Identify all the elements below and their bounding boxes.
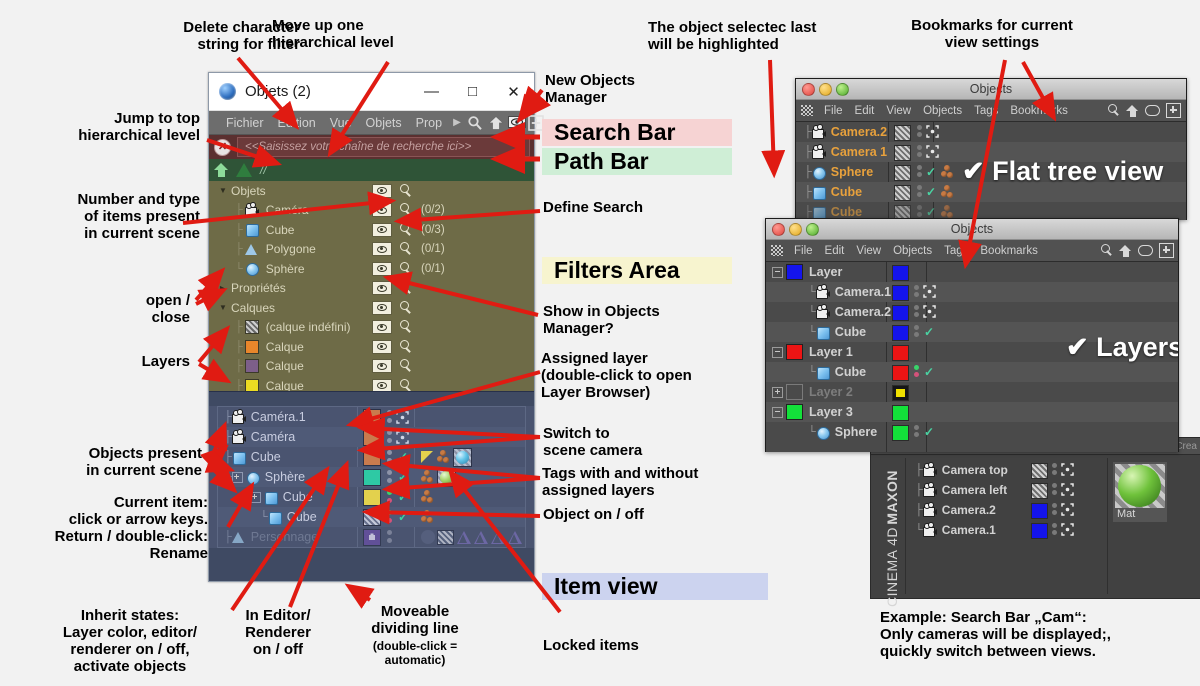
tree-line: ├ [235, 380, 243, 391]
menu-bar[interactable]: File Edit View Objects Tags Bookmarks [796, 100, 1186, 122]
filter-row[interactable]: ├Caméra(0/2) [209, 201, 534, 221]
search-icon[interactable] [1101, 244, 1114, 257]
assigned-layer-chip[interactable] [363, 509, 381, 526]
eye-icon[interactable] [372, 320, 392, 334]
item-row[interactable]: ├Sphère✓ [218, 467, 525, 487]
switch-to-camera-icon[interactable] [923, 285, 936, 298]
cube-icon [245, 223, 260, 236]
tag-list[interactable] [421, 447, 475, 467]
inherit-dots[interactable] [913, 424, 920, 439]
sphere-icon [246, 471, 261, 484]
item-row[interactable]: ├Personnage [218, 527, 525, 547]
expander-icon[interactable] [772, 407, 783, 418]
menu-item-objects[interactable]: Objects [923, 105, 962, 117]
layer-row-label: Camera.2 [835, 305, 891, 319]
layer-row-label: Layer 1 [809, 345, 853, 359]
tree-line: └ [235, 263, 243, 275]
annotation-inherit-states: Inherit states: Layer color, editor/ ren… [30, 608, 230, 676]
inherit-dots[interactable] [1051, 522, 1058, 537]
camera-icon [923, 464, 938, 477]
layer-color-swatch[interactable] [786, 344, 803, 360]
camera-icon [232, 431, 247, 444]
item-row-label: Cube [251, 450, 281, 464]
object-on-off-check[interactable]: ✓ [398, 450, 408, 464]
camera-icon [812, 126, 827, 139]
twisty-icon[interactable]: ▼ [217, 186, 229, 195]
menu-item-view[interactable]: View [886, 105, 911, 117]
inherit-dots[interactable] [913, 304, 920, 319]
item-row[interactable]: ├Caméra.1 [218, 407, 525, 427]
assigned-layer-chip[interactable] [1031, 523, 1048, 539]
layer-row[interactable]: └Sphere✓ [766, 422, 1178, 442]
no-layer-chip[interactable] [1031, 483, 1048, 499]
filter-row-label: Sphère [266, 262, 305, 276]
item-row[interactable]: ├Cube✓ [218, 487, 525, 507]
eye-icon[interactable] [372, 379, 392, 391]
cube-icon [232, 451, 247, 464]
object-on-off-check[interactable]: ✓ [926, 205, 936, 219]
switch-to-camera-icon[interactable] [1061, 503, 1074, 516]
window-titlebar[interactable]: Objects [796, 79, 1186, 100]
layer-row[interactable]: Layer [766, 262, 1178, 282]
result-row[interactable]: ├Camera left [913, 480, 1103, 500]
eye-icon[interactable] [372, 203, 392, 217]
object-on-off-check[interactable]: ✓ [398, 510, 408, 524]
material-tag-icon[interactable] [453, 448, 472, 467]
eye-icon[interactable] [372, 340, 392, 354]
menu-item-objects[interactable]: Objects [893, 245, 932, 257]
menu-item-tags[interactable]: Tags [974, 105, 998, 117]
result-row-label: Camera top [942, 463, 1008, 477]
tree-line: ├ [235, 204, 243, 216]
twisty-icon[interactable]: ▶ [217, 284, 229, 293]
highlight-path-bar: Path Bar [542, 148, 732, 175]
menu-bar[interactable]: Fichier Edition Vue Objets Prop ▶ [209, 111, 534, 135]
window-titlebar[interactable]: Objects [766, 219, 1178, 240]
filter-row[interactable]: ├Calque [209, 357, 534, 377]
triangle-tag-icon[interactable] [457, 531, 472, 544]
assigned-layer-chip[interactable] [892, 325, 909, 341]
search-icon[interactable] [399, 223, 413, 237]
switch-to-camera-icon[interactable] [926, 125, 939, 138]
eye-icon[interactable] [508, 115, 524, 131]
chevron-right-icon[interactable]: ▶ [453, 117, 461, 128]
menu-item-bookmarks[interactable]: Bookmarks [1010, 105, 1068, 117]
close-button[interactable]: ✕ [493, 73, 534, 110]
switch-to-camera-icon[interactable] [923, 305, 936, 318]
search-icon[interactable] [1108, 104, 1121, 117]
object-on-off-check[interactable]: ✓ [926, 165, 936, 179]
camera-icon [812, 146, 827, 159]
expander-icon[interactable] [772, 267, 783, 278]
moveable-dividing-line[interactable] [209, 391, 534, 397]
tag-dots-icon[interactable] [421, 489, 434, 506]
texture-tag-icon[interactable] [437, 530, 454, 545]
layer-row-label: Cube [835, 325, 866, 339]
tag-dots-icon[interactable] [941, 164, 954, 181]
item-count: (0/3) [421, 224, 445, 236]
layer-row-label: Layer [809, 265, 842, 279]
material-thumb[interactable]: Mat [1113, 462, 1167, 522]
result-row-label: Camera left [942, 483, 1007, 497]
switch-to-camera-icon[interactable] [1061, 523, 1074, 536]
menu-item-tags[interactable]: Tags [944, 245, 968, 257]
flat-row[interactable]: ├Camera.2 [796, 122, 1186, 142]
filter-row-label: Calque [266, 379, 304, 391]
layer-color-swatch[interactable] [245, 359, 259, 373]
inherit-dots[interactable] [913, 284, 920, 299]
assigned-layer-chip[interactable] [892, 385, 909, 401]
annotation-number-and-type: Number and type of items present in curr… [10, 192, 200, 243]
tree-line: ├ [804, 166, 812, 178]
eye-icon[interactable] [372, 359, 392, 373]
layer-row[interactable]: Layer 3 [766, 402, 1178, 422]
tag-dots-icon[interactable] [421, 469, 434, 486]
menu-item-edit[interactable]: Edit [825, 245, 845, 257]
search-result-list[interactable]: ├Camera top├Camera left├Camera.2└Camera.… [913, 460, 1103, 540]
search-icon[interactable] [399, 203, 413, 217]
tag-list[interactable] [421, 507, 437, 527]
assigned-layer-chip[interactable] [892, 425, 909, 441]
flat-row-label: Camera 1 [831, 145, 887, 159]
inherit-dots[interactable] [386, 489, 394, 505]
object-on-off-check[interactable]: ✓ [924, 365, 934, 379]
item-row[interactable]: └Cube✓ [218, 507, 525, 527]
flat-row-label: Cube [831, 185, 862, 199]
inherit-dots[interactable] [913, 324, 920, 339]
inherit-dots[interactable] [1051, 502, 1058, 517]
search-icon[interactable] [399, 242, 413, 256]
menu-item-prop[interactable]: Prop [416, 116, 442, 130]
item-view[interactable]: ├Caméra.1├Caméra├Cube✓├Sphère✓├Cube✓└Cub… [209, 406, 534, 548]
polygon-icon [232, 531, 247, 544]
item-count: (0/2) [421, 204, 445, 216]
tree-line: ├ [235, 243, 243, 255]
path-bar[interactable]: // [209, 159, 534, 181]
layer-color-swatch[interactable] [786, 264, 803, 280]
item-row[interactable]: ├Caméra [218, 427, 525, 447]
annotation-layers: Layers [10, 354, 190, 371]
search-bar[interactable]: ✕ <<Saisissez votre chaîne de recherche … [209, 135, 534, 159]
camera-icon [923, 484, 938, 497]
assigned-layer-chip[interactable] [892, 285, 909, 301]
home-icon[interactable] [1119, 245, 1132, 257]
item-row[interactable]: ├Cube✓ [218, 447, 525, 467]
assigned-layer-chip[interactable] [363, 489, 381, 506]
tree-line: ├ [242, 491, 250, 503]
annotation-jump-top-level: Jump to top hierarchical level [10, 111, 200, 145]
layer-color-swatch[interactable] [245, 320, 259, 334]
object-on-off-check[interactable]: ✓ [926, 185, 936, 199]
filter-row[interactable]: ▶Propriétés [209, 279, 534, 299]
filter-row[interactable]: ├(calque indéfini) [209, 318, 534, 338]
menu-item-objets[interactable]: Objets [366, 116, 402, 130]
item-view-list[interactable]: ├Caméra.1├Caméra├Cube✓├Sphère✓├Cube✓└Cub… [217, 406, 526, 548]
camera-icon [816, 306, 831, 319]
assigned-layer-chip[interactable] [892, 345, 909, 361]
home-icon[interactable] [488, 115, 504, 131]
window-title: Objects [796, 82, 1186, 96]
annotation-assigned-layer: Assigned layer (double-click to open Lay… [541, 351, 771, 402]
filter-row-label: Cube [266, 223, 295, 237]
highlight-search-bar: Search Bar [542, 119, 732, 146]
assigned-layer-chip[interactable] [892, 405, 909, 421]
camera-icon [816, 286, 831, 299]
eye-icon[interactable] [372, 262, 392, 276]
expander-icon[interactable] [772, 387, 783, 398]
object-on-off-check[interactable]: ✓ [924, 325, 934, 339]
result-row[interactable]: ├Camera top [913, 460, 1103, 480]
switch-to-camera-icon[interactable] [396, 431, 409, 444]
layer-row-label: Cube [835, 365, 866, 379]
object-on-off-check[interactable]: ✓ [398, 490, 408, 504]
plus-icon[interactable] [1159, 243, 1174, 258]
inherit-dots[interactable] [386, 509, 394, 525]
flat-tree-body[interactable]: ├Camera.2├Camera 1├Sphere✓├Cube✓├Cube✓ ✔… [796, 122, 1186, 220]
maximize-button[interactable]: □ [452, 73, 493, 110]
menu-item-vue[interactable]: Vue [330, 116, 352, 130]
tag-list[interactable] [421, 467, 459, 487]
search-icon[interactable] [399, 301, 413, 315]
material-label: Mat [1115, 508, 1165, 520]
lock-icon[interactable] [363, 529, 381, 546]
filter-row[interactable]: ├Calque [209, 337, 534, 357]
filter-row-label: Propriétés [231, 281, 286, 295]
tree-line: ├ [224, 531, 232, 543]
polygon-icon [245, 243, 260, 256]
plus-icon[interactable] [1166, 103, 1181, 118]
switch-to-camera-icon[interactable] [926, 145, 939, 158]
menu-item-edit[interactable]: Edit [855, 105, 875, 117]
filter-row-label: Caméra [266, 203, 309, 217]
sphere-icon [812, 166, 827, 179]
result-row[interactable]: └Camera.1 [913, 520, 1103, 540]
menu-item-file[interactable]: File [794, 245, 813, 257]
inherit-dots[interactable] [1051, 482, 1058, 497]
cube-icon [268, 511, 283, 524]
window-titlebar[interactable]: Objets (2) — □ ✕ [209, 73, 534, 111]
eye-icon[interactable] [372, 223, 392, 237]
filter-row[interactable]: └Sphère(0/1) [209, 259, 534, 279]
filter-row-label: Polygone [266, 242, 316, 256]
inherit-dots[interactable] [916, 184, 923, 199]
annotation-object-selected-last: The object selectec last will be highlig… [648, 20, 878, 54]
flat-tree-badge: ✔ Flat tree view [962, 156, 1163, 187]
layer-row-label: Layer 3 [809, 405, 853, 419]
result-row-label: Camera.2 [942, 503, 996, 517]
switch-to-camera-icon[interactable] [1061, 483, 1074, 496]
flat-tree-window[interactable]: Objects File Edit View Objects Tags Book… [795, 78, 1187, 220]
layer-color-swatch[interactable] [786, 384, 803, 400]
cube-icon [812, 186, 827, 199]
search-icon[interactable] [399, 340, 413, 354]
tree-line: ├ [224, 451, 232, 463]
layer-row-label: Sphere [835, 425, 877, 439]
filters-area[interactable]: ▼Objets├Caméra(0/2)├Cube(0/3)├Polygone(0… [209, 181, 534, 391]
inherit-dots[interactable] [386, 469, 394, 485]
tree-line: ├ [804, 206, 812, 218]
eye-icon[interactable] [372, 301, 392, 315]
layer-row[interactable]: └Cube✓ [766, 362, 1178, 382]
assigned-layer-chip[interactable] [363, 409, 381, 426]
tree-line: └ [808, 306, 816, 318]
annotation-moveable-divider: Moveable dividing line [345, 604, 485, 638]
inherit-dots[interactable] [916, 164, 923, 179]
object-on-off-check[interactable]: ✓ [924, 425, 934, 439]
switch-to-camera-icon[interactable] [1061, 463, 1074, 476]
inherit-dots[interactable] [913, 364, 920, 379]
no-layer-chip[interactable] [894, 165, 911, 181]
assigned-layer-chip[interactable] [1031, 503, 1048, 519]
result-row[interactable]: ├Camera.2 [913, 500, 1103, 520]
expander-icon[interactable] [250, 492, 261, 503]
no-layer-chip[interactable] [894, 145, 911, 161]
triangle-tag-icon[interactable] [474, 531, 489, 544]
tree-line: ├ [224, 471, 232, 483]
menu-grip-icon[interactable] [771, 245, 783, 256]
annotation-moveable-divider-sub: (double-click = automatic) [345, 640, 485, 667]
triangle-tag-icon[interactable] [491, 531, 506, 544]
eye-icon[interactable] [1145, 105, 1160, 116]
menu-item-bookmarks[interactable]: Bookmarks [980, 245, 1038, 257]
tag-dots-icon[interactable] [421, 509, 434, 526]
item-count: (0/1) [421, 243, 445, 255]
clear-search-icon[interactable]: ✕ [214, 139, 231, 156]
annotation-switch-scene-camera: Switch to scene camera [543, 426, 743, 460]
flat-row-label: Sphere [831, 165, 873, 179]
menu-item-fichier[interactable]: Fichier [226, 116, 264, 130]
tag-dots-icon[interactable] [941, 184, 954, 201]
search-icon[interactable] [467, 115, 483, 131]
material-tag-icon[interactable] [437, 468, 456, 487]
twisty-icon[interactable]: ▼ [217, 303, 229, 312]
search-icon[interactable] [399, 184, 413, 198]
menu-bar[interactable]: File Edit View Objects Tags Bookmarks [766, 240, 1178, 262]
layer-row[interactable]: └Camera.1 [766, 282, 1178, 302]
filter-row[interactable]: ├Calque [209, 376, 534, 391]
inherit-dots[interactable] [386, 529, 394, 545]
search-icon[interactable] [399, 359, 413, 373]
window-title: Objets (2) [245, 83, 311, 100]
tag-list[interactable] [421, 527, 525, 547]
maxon-cinema4d-logo: MAXON CINEMA 4D [884, 470, 924, 590]
layer-row[interactable]: Layer 2 [766, 382, 1178, 402]
inherit-dots[interactable] [1051, 462, 1058, 477]
layer-row-label: Camera.1 [835, 285, 891, 299]
eye-icon[interactable] [372, 242, 392, 256]
assigned-layer-chip[interactable] [892, 265, 909, 281]
filter-row-label: (calque indéfini) [266, 320, 351, 334]
camera-icon [923, 504, 938, 517]
layer-color-swatch[interactable] [245, 340, 259, 354]
menu-item-view[interactable]: View [856, 245, 881, 257]
expander-icon[interactable] [232, 472, 243, 483]
cube-icon [816, 326, 831, 339]
camera-icon [923, 524, 938, 537]
tag-dots-icon[interactable] [437, 449, 450, 466]
filter-row[interactable]: ▼Calques [209, 298, 534, 318]
minimize-button[interactable]: — [411, 73, 452, 110]
no-layer-chip[interactable] [1031, 463, 1048, 479]
path-value[interactable]: // [260, 163, 534, 177]
layer-color-swatch[interactable] [786, 404, 803, 420]
filter-row[interactable]: ▼Objets [209, 181, 534, 201]
tree-line: ├ [804, 126, 812, 138]
tree-line: ├ [224, 411, 232, 423]
inherit-dots[interactable] [916, 204, 923, 219]
expander-icon[interactable] [772, 347, 783, 358]
inherit-dots[interactable] [916, 144, 923, 159]
annotation-object-on-off: Object on / off [543, 507, 743, 524]
app-icon [219, 83, 236, 100]
tree-line: ├ [804, 186, 812, 198]
no-layer-chip[interactable] [894, 185, 911, 201]
corner-tag-icon[interactable] [421, 451, 434, 464]
inherit-dots[interactable] [386, 429, 394, 445]
up-triangle-icon[interactable] [236, 163, 252, 177]
search-icon[interactable] [399, 281, 413, 295]
annotation-example-note: Example: Search Bar „Cam“: Only cameras … [880, 610, 1190, 661]
no-layer-chip[interactable] [894, 125, 911, 141]
eye-icon[interactable] [1138, 245, 1153, 256]
tag-list[interactable] [421, 487, 437, 507]
assigned-layer-chip[interactable] [892, 305, 909, 321]
item-count: (0/1) [421, 263, 445, 275]
menu-item-edition[interactable]: Edition [278, 116, 316, 130]
eye-icon[interactable] [372, 281, 392, 295]
cube-icon [816, 366, 831, 379]
assigned-layer-chip[interactable] [363, 429, 381, 446]
filter-row[interactable]: ├Cube(0/3) [209, 220, 534, 240]
search-icon[interactable] [399, 262, 413, 276]
object-on-off-check[interactable]: ✓ [398, 470, 408, 484]
filter-row-label: Objets [231, 184, 266, 198]
layer-color-swatch[interactable] [245, 379, 259, 391]
triangle-tag-icon[interactable] [508, 531, 523, 544]
search-input[interactable]: <<Saisissez votre chaîne de recherche ic… [237, 137, 530, 157]
phong-tag-icon[interactable] [421, 530, 435, 544]
search-icon[interactable] [399, 320, 413, 334]
highlight-filters-area: Filters Area [542, 257, 732, 284]
layers-body[interactable]: Layer└Camera.1└Camera.2└Cube✓Layer 1└Cub… [766, 262, 1178, 452]
assigned-layer-chip[interactable] [363, 449, 381, 466]
filter-row[interactable]: ├Polygone(0/1) [209, 240, 534, 260]
tree-line: ├ [235, 341, 243, 353]
annotation-new-objects-manager: New Objects Manager [545, 73, 745, 107]
assigned-layer-chip[interactable] [363, 469, 381, 486]
home-icon[interactable] [214, 163, 229, 177]
annotation-bookmarks-note: Bookmarks for current view settings [884, 18, 1100, 52]
annotation-delete-filter: Delete character string for filter [30, 20, 300, 54]
inherit-dots[interactable] [386, 409, 394, 425]
objects-manager-window[interactable]: Objets (2) — □ ✕ Fichier Edition Vue Obj… [208, 72, 535, 582]
menu-item-file[interactable]: File [824, 105, 843, 117]
flat-row-label: Cube [831, 205, 862, 219]
inherit-dots[interactable] [916, 124, 923, 139]
eye-icon[interactable] [372, 184, 392, 198]
menu-grip-icon[interactable] [801, 105, 813, 116]
home-icon[interactable] [1126, 105, 1139, 117]
inherit-dots[interactable] [386, 449, 394, 465]
layers-window[interactable]: Objects File Edit View Objects Tags Book… [765, 218, 1179, 452]
search-icon[interactable] [399, 379, 413, 391]
cube-icon [264, 491, 279, 504]
layer-row[interactable]: └Camera.2 [766, 302, 1178, 322]
assigned-layer-chip[interactable] [892, 365, 909, 381]
switch-to-camera-icon[interactable] [396, 411, 409, 424]
filter-row-label: Calque [266, 340, 304, 354]
tree-line: ├ [235, 224, 243, 236]
